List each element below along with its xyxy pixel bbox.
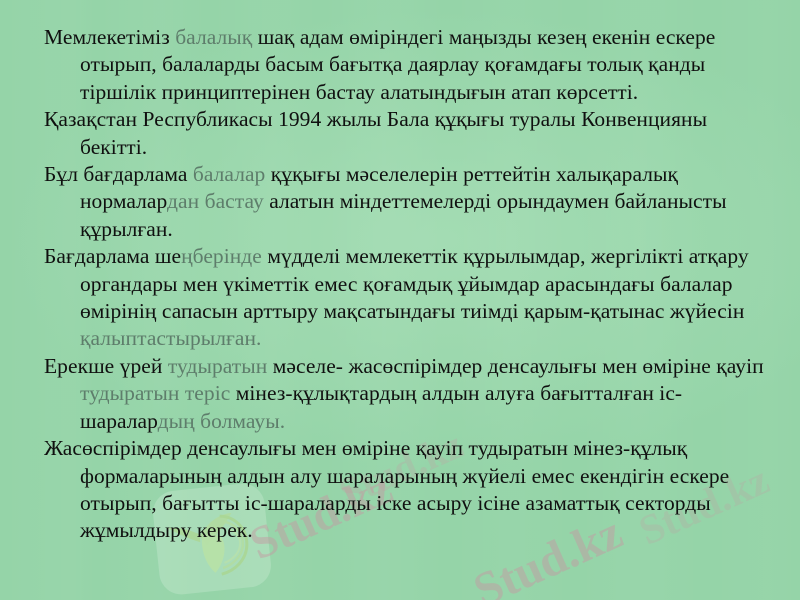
- text-run-dim: балалар: [193, 162, 266, 186]
- text-run: Мемлекетіміз: [44, 25, 175, 49]
- text-run: Бұл бағдарлама: [44, 162, 193, 186]
- slide-body-text: Мемлекетіміз балалық шақ адам өміріндегі…: [44, 24, 774, 545]
- text-run-dim: балалық: [175, 25, 252, 49]
- presentation-slide: Stud.kz Stud.kz Stud.kz Stud.kz Мемлекет…: [0, 0, 800, 600]
- para-1: Мемлекетіміз балалық шақ адам өміріндегі…: [44, 24, 774, 106]
- text-run-dim: қалыптастырылған.: [80, 326, 261, 350]
- para-2: Қазақстан Республикасы 1994 жылы Бала құ…: [44, 106, 774, 161]
- text-run: Қазақстан Республикасы 1994 жылы Бала құ…: [44, 107, 707, 158]
- para-5: Ерекше үрей тудыратын мәселе- жасөспірім…: [44, 353, 774, 435]
- para-6: Жасөспірімдер денсаулығы мен өміріне қау…: [44, 435, 774, 545]
- text-run-dim: тудыратын теріс: [80, 381, 230, 405]
- text-run-dim: дың болмауы.: [158, 409, 285, 433]
- para-4: Бағдарлама шеңберінде мүдделі мемлекетті…: [44, 243, 774, 353]
- text-run: Бағдарлама ше: [44, 244, 181, 268]
- text-run-dim: ңберінде: [181, 244, 262, 268]
- text-run: Ерекше үрей: [44, 354, 168, 378]
- text-run: мәселе- жасөспірімдер денсаулығы мен өмі…: [267, 354, 763, 378]
- para-3: Бұл бағдарлама балалар құқығы мәселелері…: [44, 161, 774, 243]
- text-run: Жасөспірімдер денсаулығы мен өміріне қау…: [44, 436, 729, 542]
- text-run-dim: тудыратын: [168, 354, 267, 378]
- text-run-dim: дан бастау: [167, 189, 264, 213]
